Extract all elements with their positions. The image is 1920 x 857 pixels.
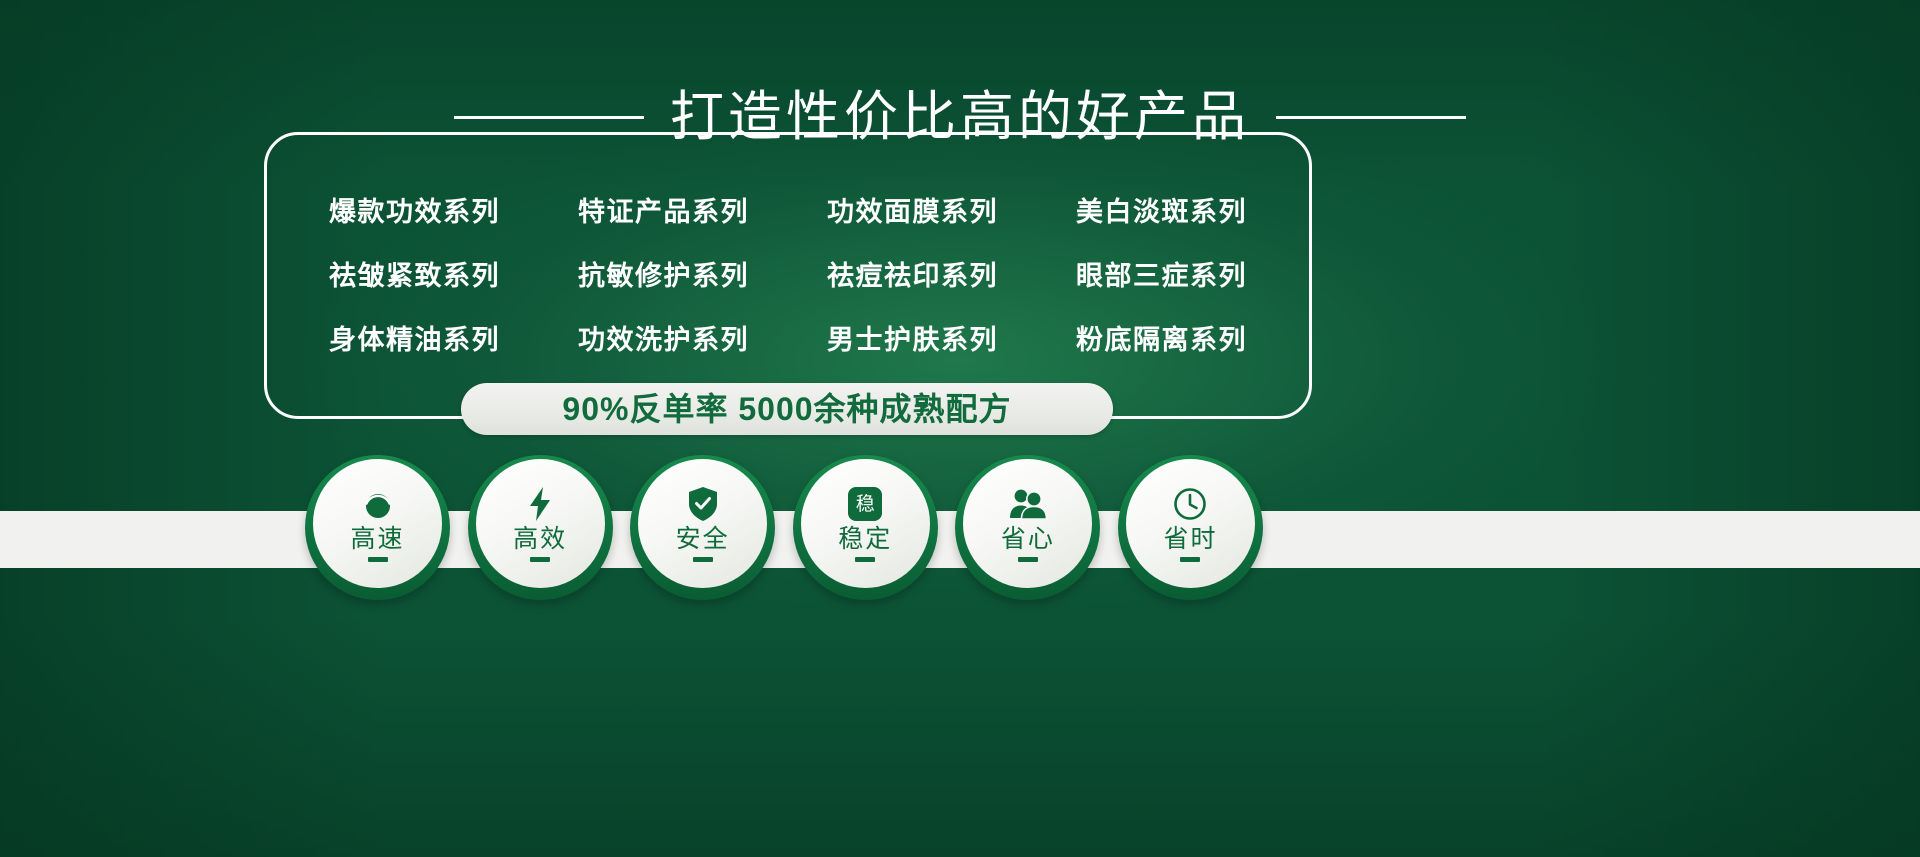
series-item[interactable]: 祛皱紧致系列 xyxy=(290,254,539,298)
badge-face: 安全 xyxy=(638,459,767,588)
badge-underline xyxy=(855,557,875,562)
promo-banner: 打造性价比高的好产品 爆款功效系列 特证产品系列 功效面膜系列 美白淡斑系列 祛… xyxy=(0,0,1920,857)
feature-badge-gaosu[interactable]: 高速 xyxy=(305,455,450,605)
series-item[interactable]: 功效洗护系列 xyxy=(539,318,788,362)
badge-underline xyxy=(1180,557,1200,562)
title-rule-right xyxy=(1276,116,1466,119)
series-item[interactable]: 抗敏修护系列 xyxy=(539,254,788,298)
badge-underline xyxy=(368,557,388,562)
badge-label: 省时 xyxy=(1163,526,1217,551)
shield-check-icon xyxy=(683,485,723,523)
page-title: 打造性价比高的好产品 xyxy=(670,90,1250,144)
badge-face: 高效 xyxy=(476,459,605,588)
feature-badge-row: 高速 高效 xyxy=(305,455,1263,610)
speedometer-icon xyxy=(358,485,398,523)
badge-label: 省心 xyxy=(1001,526,1055,551)
title-row: 打造性价比高的好产品 xyxy=(0,90,1920,144)
feature-badge-anquan[interactable]: 安全 xyxy=(630,455,775,605)
badge-underline xyxy=(530,557,550,562)
series-item[interactable]: 祛痘祛印系列 xyxy=(788,254,1037,298)
series-item[interactable]: 美白淡斑系列 xyxy=(1037,190,1286,234)
stats-pill: 90%反单率 5000余种成熟配方 xyxy=(461,383,1113,435)
series-item[interactable]: 粉底隔离系列 xyxy=(1037,318,1286,362)
stable-tag-glyph: 稳 xyxy=(848,487,882,521)
feature-badge-wending[interactable]: 稳 稳定 xyxy=(793,455,938,605)
badge-face: 省心 xyxy=(963,459,1092,588)
badge-label: 高速 xyxy=(350,526,404,551)
title-rule-left xyxy=(454,116,644,119)
badge-face: 稳 稳定 xyxy=(801,459,930,588)
badge-label: 稳定 xyxy=(838,526,892,551)
series-item[interactable]: 眼部三症系列 xyxy=(1037,254,1286,298)
stats-pill-text: 90%反单率 5000余种成熟配方 xyxy=(562,393,1011,425)
series-item[interactable]: 特证产品系列 xyxy=(539,190,788,234)
product-series-grid: 爆款功效系列 特证产品系列 功效面膜系列 美白淡斑系列 祛皱紧致系列 抗敏修护系… xyxy=(290,190,1286,362)
lightning-bolt-icon xyxy=(520,485,560,523)
feature-badge-shengxin[interactable]: 省心 xyxy=(955,455,1100,605)
feature-badge-gaoxiao[interactable]: 高效 xyxy=(468,455,613,605)
badge-face: 省时 xyxy=(1126,459,1255,588)
badge-underline xyxy=(693,557,713,562)
series-item[interactable]: 男士护肤系列 xyxy=(788,318,1037,362)
badge-label: 高效 xyxy=(513,526,567,551)
stable-tag-icon: 稳 xyxy=(845,485,885,523)
series-item[interactable]: 功效面膜系列 xyxy=(788,190,1037,234)
clock-icon xyxy=(1170,485,1210,523)
series-item[interactable]: 身体精油系列 xyxy=(290,318,539,362)
series-item[interactable]: 爆款功效系列 xyxy=(290,190,539,234)
badge-underline xyxy=(1018,557,1038,562)
badge-label: 安全 xyxy=(676,526,730,551)
badge-face: 高速 xyxy=(313,459,442,588)
two-people-icon xyxy=(1008,485,1048,523)
feature-badge-shengshi[interactable]: 省时 xyxy=(1118,455,1263,605)
